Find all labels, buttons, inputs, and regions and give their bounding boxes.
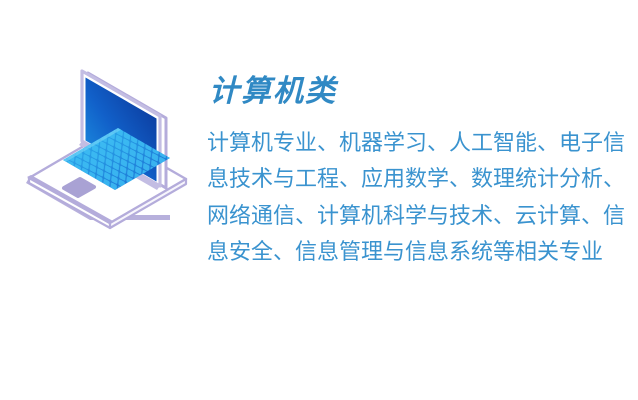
description-line: 息技术与工程、应用数学、数理统计分析、 bbox=[207, 162, 607, 198]
poster-canvas: 计算机类 计算机专业、机器学习、人工智能、电子信 息技术与工程、应用数学、数理统… bbox=[0, 0, 638, 400]
page-title: 计算机类 bbox=[209, 72, 607, 112]
description-line: 息安全、信息管理与信息系统等相关专业 bbox=[207, 235, 607, 271]
laptop-illustration bbox=[18, 55, 208, 235]
description-line: 网络通信、计算机科学与技术、云计算、信 bbox=[207, 199, 607, 235]
text-block: 计算机类 计算机专业、机器学习、人工智能、电子信 息技术与工程、应用数学、数理统… bbox=[207, 72, 607, 271]
description-list: 计算机专业、机器学习、人工智能、电子信 息技术与工程、应用数学、数理统计分析、 … bbox=[207, 126, 607, 271]
description-line: 计算机专业、机器学习、人工智能、电子信 bbox=[207, 126, 607, 162]
laptop-illustration-svg bbox=[18, 55, 208, 235]
